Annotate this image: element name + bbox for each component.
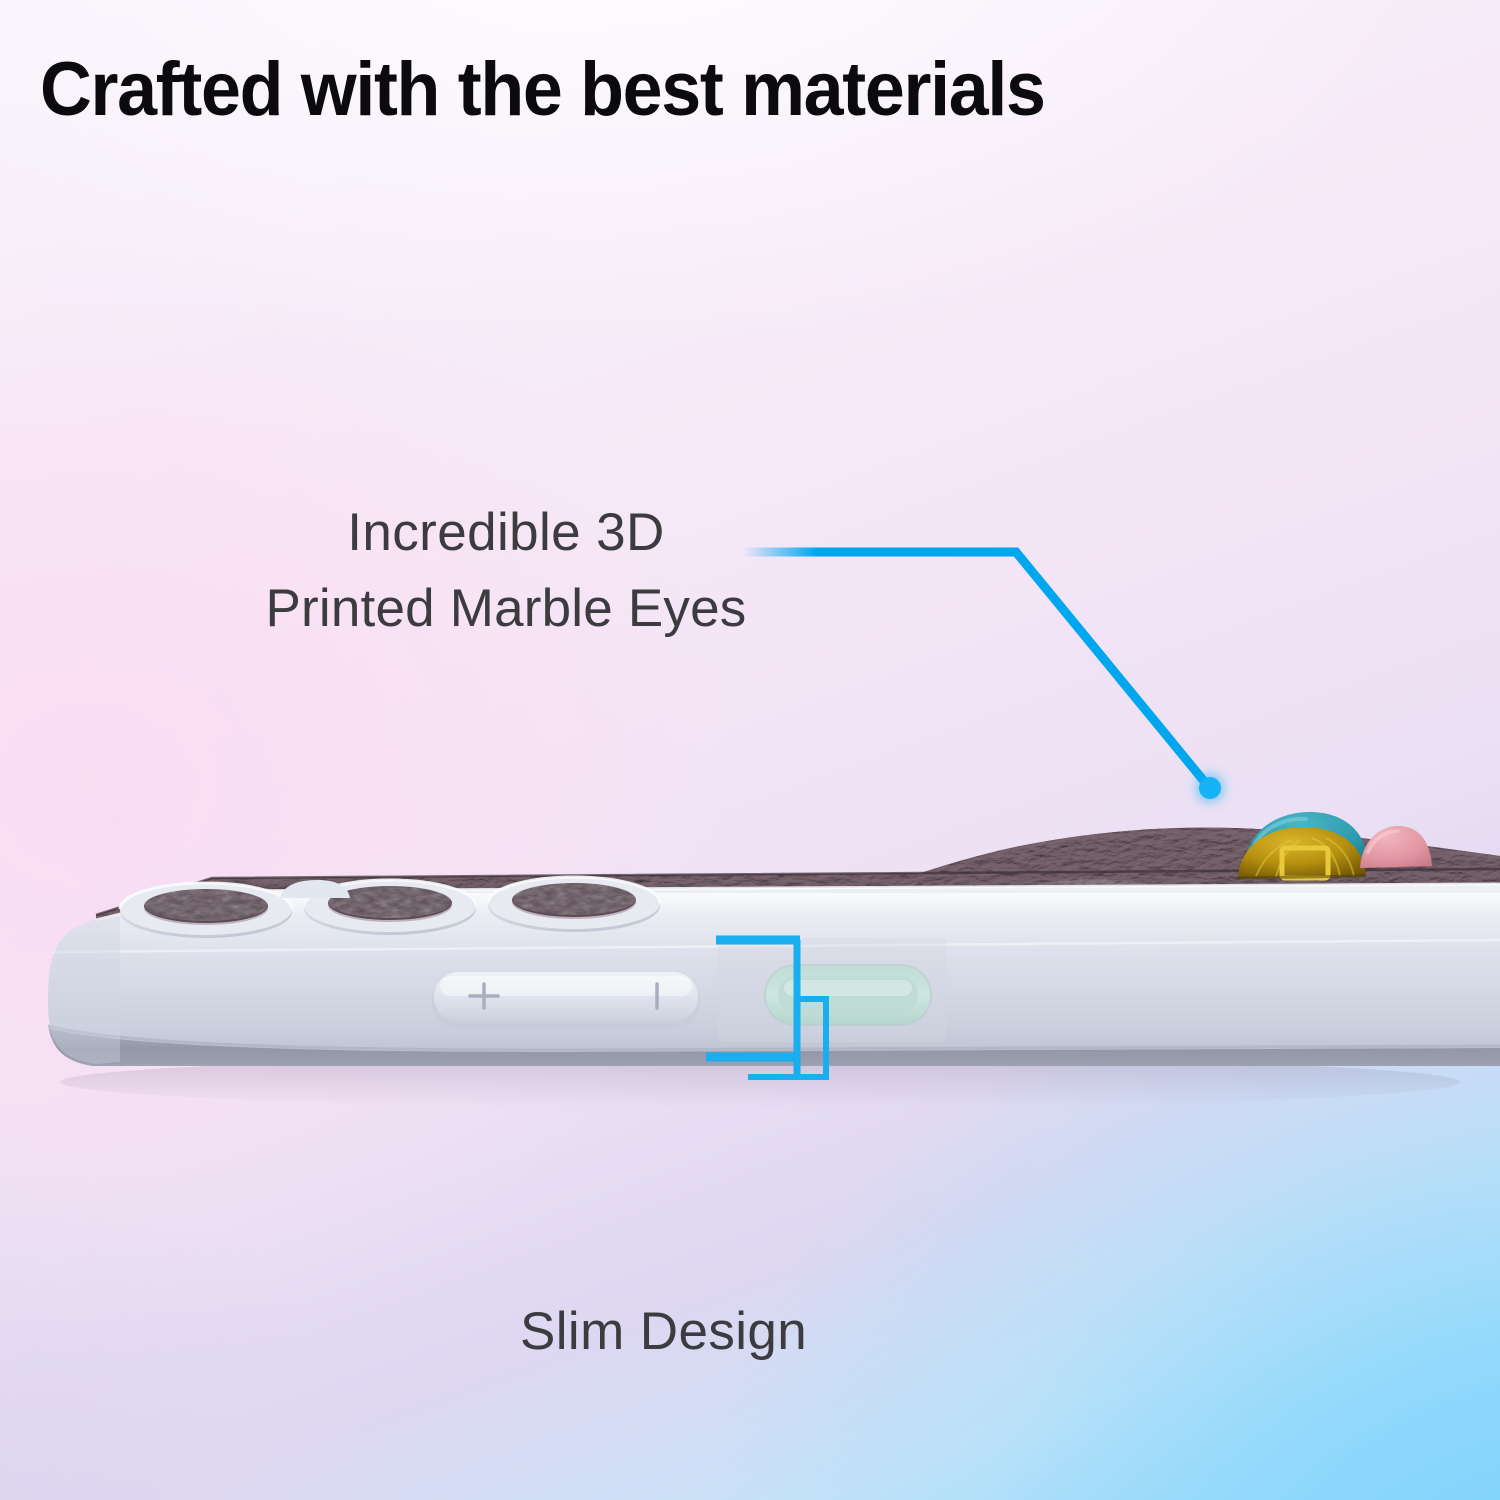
callout-lines <box>0 0 1500 1500</box>
callout-line-slim-design <box>706 940 826 1282</box>
product-feature-graphic: Crafted with the best materials <box>0 0 1500 1500</box>
callout-line-marble-eyes <box>742 552 1221 799</box>
callout-endpoint-dot <box>1199 777 1221 799</box>
